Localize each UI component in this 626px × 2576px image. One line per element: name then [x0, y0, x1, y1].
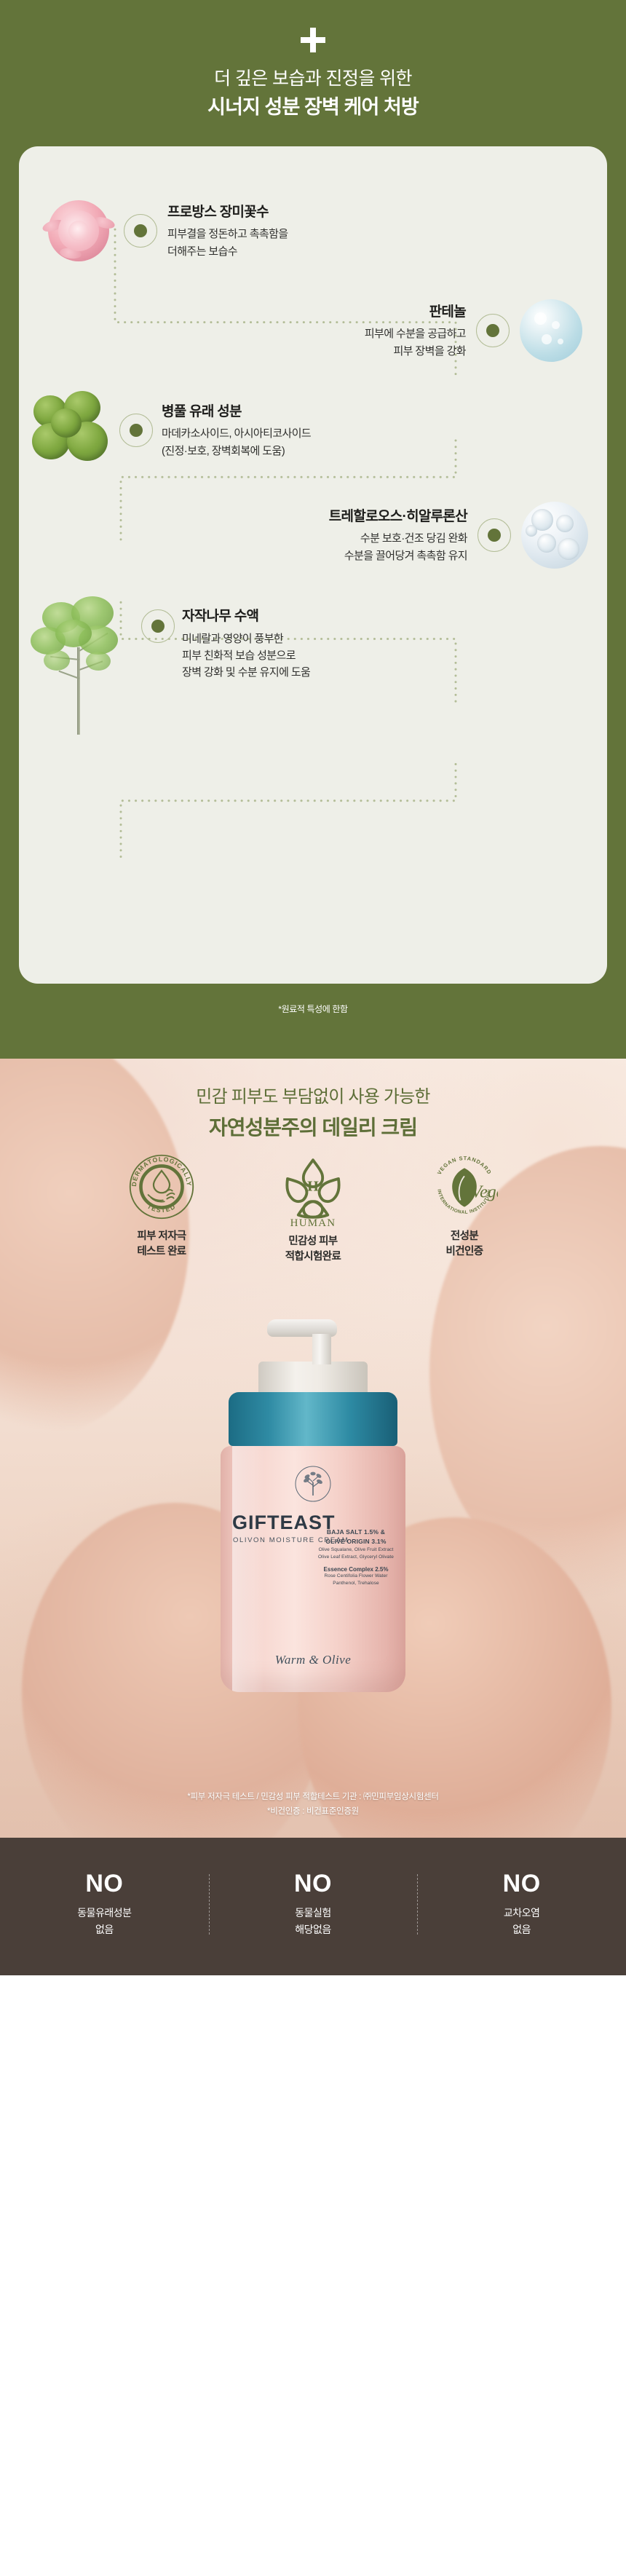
no-description: 동물실험 해당없음 — [209, 1905, 418, 1937]
bottle-neck — [258, 1362, 368, 1395]
ingredient-row-panthenol: 판테놀 피부에 수분을 공급하고 피부 장벽을 강화 — [19, 266, 607, 362]
badge-caption: 민감성 피부 적합시험완료 — [258, 1234, 368, 1265]
ingredients-heading-line2: 시너지 성분 장벽 케어 처방 — [0, 93, 626, 122]
ingredients-card: 프로방스 장미꽃수 피부결을 정돈하고 촉촉함을 더해주는 보습수 판테놀 피부… — [19, 146, 607, 984]
no-label: NO — [209, 1871, 418, 1896]
badge-mark-letter: H — [307, 1179, 319, 1195]
label-line: Panthenol, Trehalose — [315, 1580, 397, 1587]
label-line: OLIVE ORIGIN 3.1% — [315, 1537, 397, 1546]
svg-text:TESTED: TESTED — [146, 1203, 178, 1214]
badge-dermatologically-tested: DERMATOLOGICALLY TESTED 피부 저자극 테스트 완료 — [107, 1152, 216, 1265]
badge-human-sensitive-skin: H HUMAN 민감성 피부 적합시험완료 — [258, 1152, 368, 1265]
model-heading-line2: 자연성분주의 데일리 크림 — [0, 1112, 626, 1141]
label-line: Rose Centifolia Flower Water — [315, 1573, 397, 1580]
no-label: NO — [417, 1871, 626, 1896]
no-claims-section: NO 동물유래성분 없음 NO 동물실험 해당없음 NO 교차오염 없음 — [0, 1838, 626, 1975]
bottle-teal-collar — [229, 1392, 397, 1446]
no-column-no-animal-testing: NO 동물실험 해당없음 — [209, 1871, 418, 1937]
ingredient-row-trehalose-hyaluronic-acid: 트레할로오스·히알루론산 수분 보호·건조 당김 완화 수분을 끌어당겨 촉촉함… — [19, 470, 607, 569]
product-detail-page: 더 깊은 보습과 진정을 위한 시너지 성분 장벽 케어 처방 — [0, 0, 626, 1975]
badge-mark-word: HUMAN — [258, 1217, 368, 1230]
pump-dispenser — [267, 1319, 359, 1362]
ingredient-name: 병풀 유래 성분 — [162, 402, 311, 422]
ingredient-row-provence-rose-water: 프로방스 장미꽃수 피부결을 정돈하고 촉촉함을 더해주는 보습수 — [19, 171, 607, 266]
no-description: 교차오염 없음 — [417, 1905, 626, 1937]
ingredient-text: 판테놀 피부에 수분을 공급하고 피부 장벽을 강화 — [365, 302, 466, 360]
centella-leaves-image — [32, 391, 111, 470]
badge-caption: 전성분 비건인증 — [410, 1229, 519, 1260]
label-line: Olive Squalane, Olive Fruit Extract — [315, 1546, 397, 1554]
ingredient-name: 판테놀 — [365, 302, 466, 323]
molecule-cluster-image — [521, 502, 588, 569]
ingredients-heading-line1: 더 깊은 보습과 진정을 위한 — [0, 66, 626, 92]
certification-badges: DERMATOLOGICALLY TESTED 피부 저자극 테스트 완료 — [0, 1152, 626, 1265]
ingredients-footnote: *원료적 특성에 한함 — [0, 1003, 626, 1015]
ingredient-name: 트레할로오스·히알루론산 — [329, 507, 467, 527]
ingredient-row-birch-sap: 자작나무 수액 미네랄과 영양이 풍부한 피부 친화적 보습 성분으로 장벽 강… — [19, 569, 607, 735]
model-product-section: 민감 피부도 부담없이 사용 가능한 자연성분주의 데일리 크림 D — [0, 1059, 626, 1838]
no-description: 동물유래성분 없음 — [0, 1905, 209, 1937]
label-line: Olive Leaf Extract, Glyceryl Olivate — [315, 1554, 397, 1561]
plus-icon — [301, 28, 325, 52]
birch-tree-image — [25, 596, 134, 735]
dermatologically-tested-seal-icon: DERMATOLOGICALLY TESTED — [107, 1152, 216, 1222]
badge-ring-bottom-text: TESTED — [146, 1203, 178, 1214]
ingredient-desc: 피부에 수분을 공급하고 피부 장벽을 강화 — [365, 325, 466, 360]
ingredient-name: 프로방스 장미꽃수 — [167, 202, 288, 223]
ingredient-name: 자작나무 수액 — [182, 607, 310, 627]
olive-tree-emblem-icon — [294, 1465, 332, 1503]
bottle-script-text: Warm & Olive — [275, 1653, 352, 1667]
no-column-no-cross-contamination: NO 교차오염 없음 — [417, 1871, 626, 1937]
rose-flower-image — [44, 196, 114, 266]
badge-caption: 피부 저자극 테스트 완료 — [107, 1229, 216, 1260]
water-gel-drop-image — [520, 299, 582, 362]
ingredient-desc: 수분 보호·건조 당김 완화 수분을 끌어당겨 촉촉함 유지 — [329, 530, 467, 564]
ingredient-text: 병풀 유래 성분 마데카소사이드, 아시아티코사이드 (진정·보호, 장벽회복에… — [162, 402, 311, 459]
ingredient-text: 트레할로오스·히알루론산 수분 보호·건조 당김 완화 수분을 끌어당겨 촉촉함… — [329, 507, 467, 564]
model-footnote: *피부 저자극 테스트 / 민감성 피부 적합테스트 기관 : ㈜민피부임상시험… — [0, 1790, 626, 1819]
ingredient-text: 프로방스 장미꽃수 피부결을 정돈하고 촉촉함을 더해주는 보습수 — [167, 202, 288, 260]
ingredient-desc: 피부결을 정돈하고 촉촉함을 더해주는 보습수 — [167, 226, 288, 260]
bullet-marker — [119, 414, 153, 447]
ingredient-desc: 마데카소사이드, 아시아티코사이드 (진정·보호, 장벽회복에 도움) — [162, 425, 311, 459]
ingredient-desc: 미네랄과 영양이 풍부한 피부 친화적 보습 성분으로 장벽 강화 및 수분 유… — [182, 631, 310, 681]
model-heading-line1: 민감 피부도 부담없이 사용 가능한 — [0, 1082, 626, 1107]
no-label: NO — [0, 1871, 209, 1896]
bottle-body: GIFTEAST OLIVON MOISTURE CREAM BAJA SALT… — [221, 1446, 405, 1692]
bottle-ingredient-label: BAJA SALT 1.5% & OLIVE ORIGIN 3.1% Olive… — [315, 1528, 397, 1587]
bullet-marker — [124, 214, 157, 248]
bullet-marker — [478, 518, 511, 552]
ingredients-section: 더 깊은 보습과 진정을 위한 시너지 성분 장벽 케어 처방 — [0, 0, 626, 1059]
ingredients-heading: 더 깊은 보습과 진정을 위한 시너지 성분 장벽 케어 처방 — [0, 66, 626, 122]
badge-mark-word: Vegan — [471, 1183, 498, 1202]
model-heading: 민감 피부도 부담없이 사용 가능한 자연성분주의 데일리 크림 — [0, 1082, 626, 1141]
bullet-marker — [141, 609, 175, 643]
label-line: Essence Complex 2.5% — [315, 1566, 397, 1573]
product-bottle: GIFTEAST OLIVON MOISTURE CREAM BAJA SALT… — [197, 1319, 429, 1692]
vegan-leaf-seal-icon: VEGAN STANDARD INTERNATIONAL INSTITUTION… — [410, 1152, 519, 1222]
badge-vegan-certified: VEGAN STANDARD INTERNATIONAL INSTITUTION… — [410, 1152, 519, 1265]
human-flower-seal-icon: H — [258, 1152, 368, 1222]
no-column-no-animal-ingredient: NO 동물유래성분 없음 — [0, 1871, 209, 1937]
label-line: BAJA SALT 1.5% & — [315, 1528, 397, 1537]
bullet-marker — [476, 314, 510, 347]
ingredient-text: 자작나무 수액 미네랄과 영양이 풍부한 피부 친화적 보습 성분으로 장벽 강… — [182, 607, 310, 681]
ingredient-row-centella-derived: 병풀 유래 성분 마데카소사이드, 아시아티코사이드 (진정·보호, 장벽회복에… — [19, 362, 607, 470]
